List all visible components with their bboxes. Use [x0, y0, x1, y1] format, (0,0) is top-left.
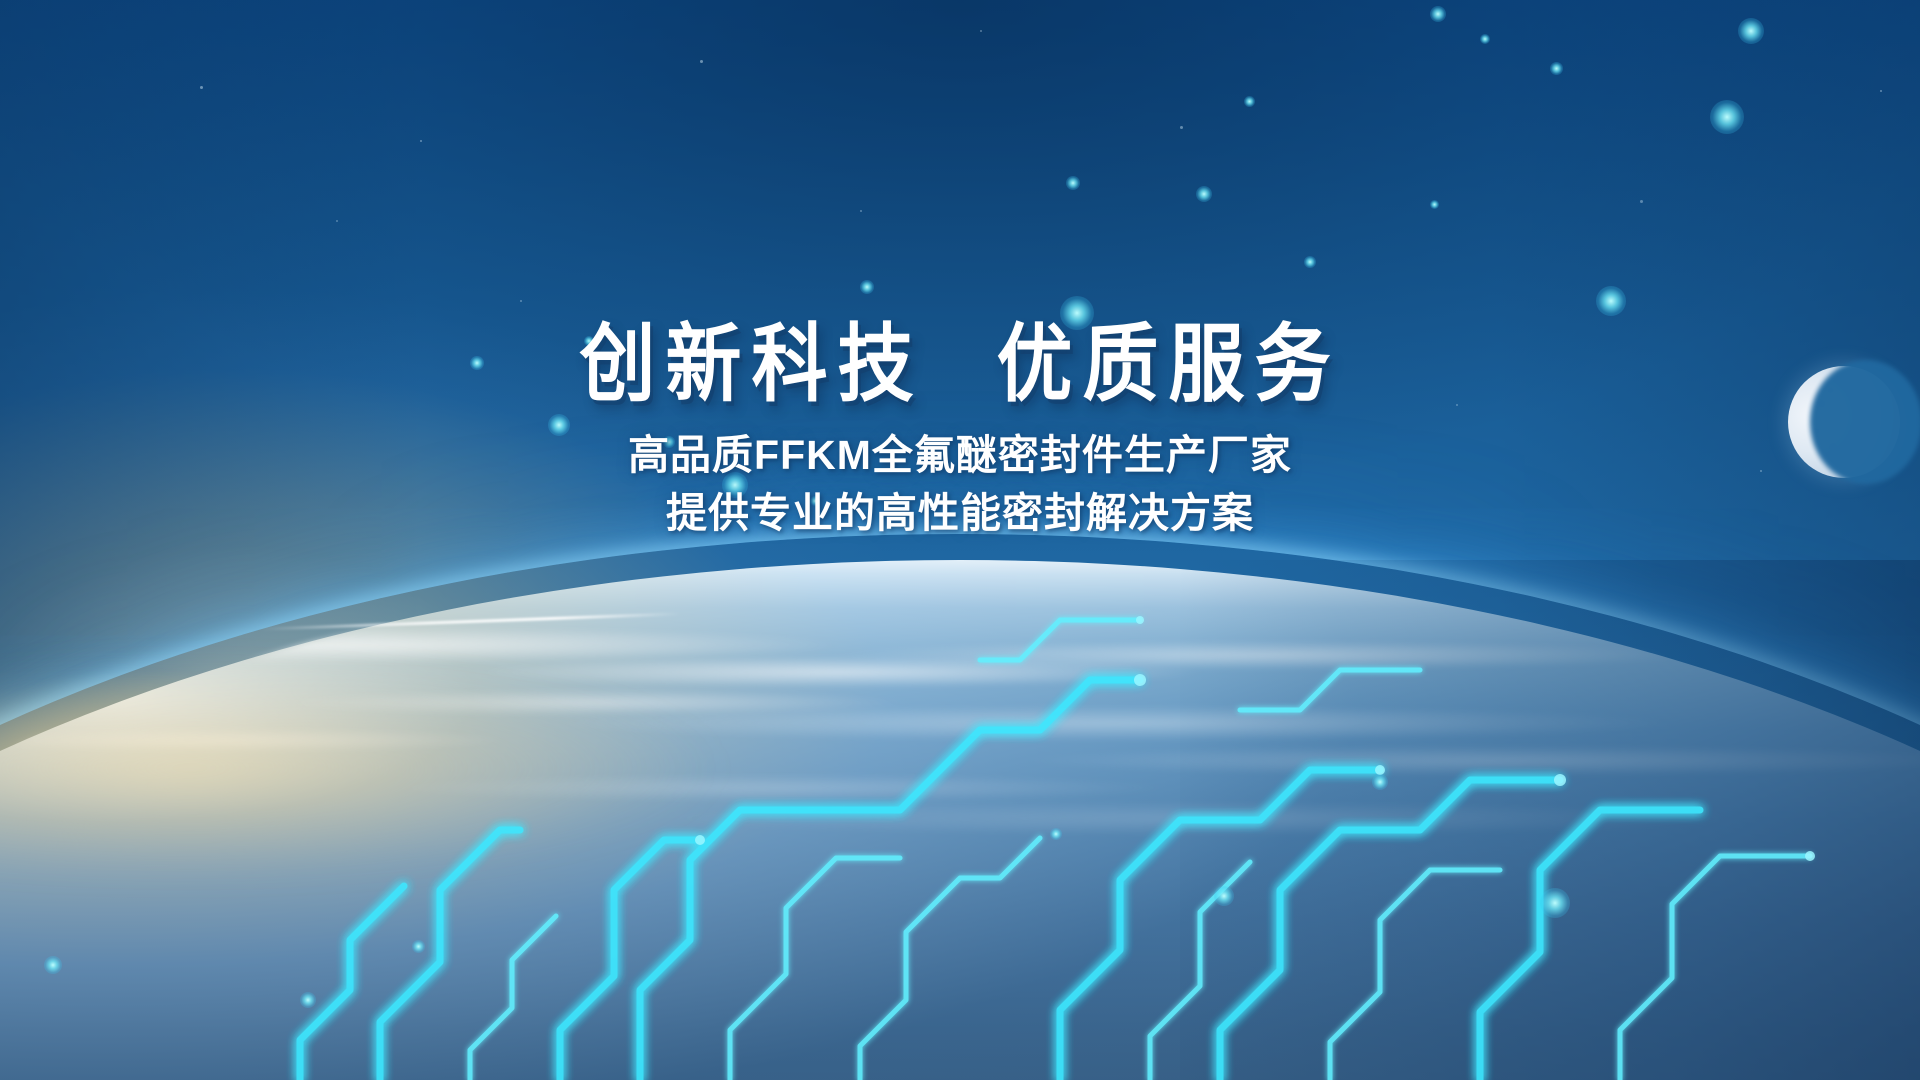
circuit-nodes [695, 616, 1815, 861]
subtitle-line-1: 高品质FFKM全氟醚密封件生产厂家 [0, 426, 1920, 484]
circuit-traces [0, 560, 1920, 1080]
hero-copy: 创新科技 优质服务 高品质FFKM全氟醚密封件生产厂家 提供专业的高性能密封解决… [0, 322, 1920, 542]
circuit-group-secondary [470, 620, 1810, 1080]
circuit-svg [0, 560, 1920, 1080]
page-title: 创新科技 优质服务 [0, 322, 1920, 407]
hero-banner: 创新科技 优质服务 高品质FFKM全氟醚密封件生产厂家 提供专业的高性能密封解决… [0, 0, 1920, 1080]
subtitle-line-2: 提供专业的高性能密封解决方案 [0, 484, 1920, 542]
